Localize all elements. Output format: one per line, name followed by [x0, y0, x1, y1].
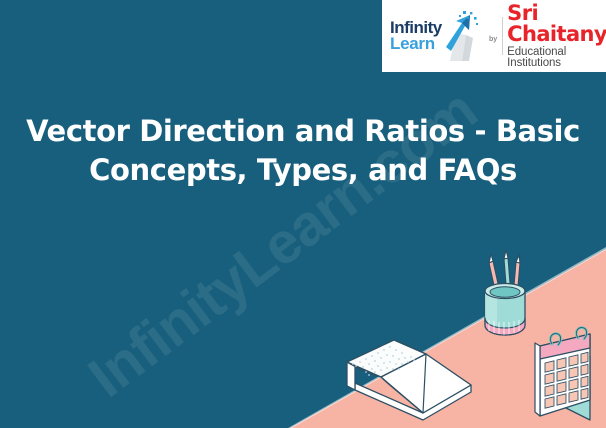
upward-arrow-icon	[436, 11, 484, 63]
article-banner: InfinityLearn.com	[0, 0, 606, 428]
infinity-learn-wordmark: Infinity Learn	[390, 20, 442, 53]
brand-logo-lockup[interactable]: Infinity Learn	[382, 0, 606, 72]
logo-divider	[502, 17, 503, 55]
logo-by-label: by	[484, 36, 502, 43]
sri-chaitanya-wordmark: Sri Chaitanya	[507, 3, 606, 45]
learn-wordmark: Learn	[390, 36, 442, 52]
infinity-learn-logo: Infinity Learn	[390, 7, 484, 65]
sri-chaitanya-tagline: Educational Institutions	[507, 47, 606, 70]
page-title: Vector Direction and Ratios - Basic Conc…	[26, 112, 580, 189]
sri-chaitanya-logo: Sri Chaitanya Educational Institutions	[507, 3, 606, 70]
